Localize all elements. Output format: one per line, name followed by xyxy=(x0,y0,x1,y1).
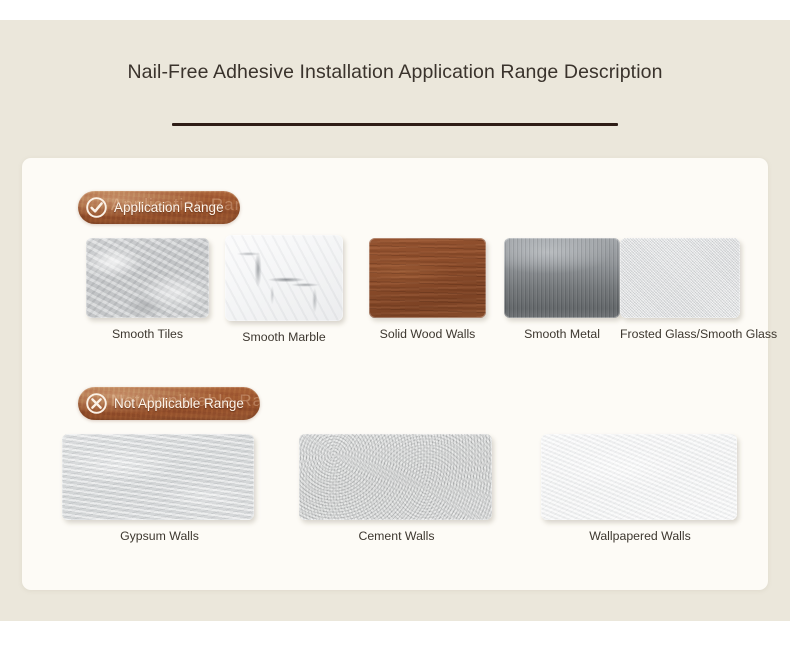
surface-label-wallpapered-walls: Wallpapered Walls xyxy=(541,528,739,544)
surface-swatch-wallpapered-walls xyxy=(541,434,737,520)
infographic-page: Nail-Free Adhesive Installation Applicat… xyxy=(0,0,790,647)
surface-swatch-smooth-marble xyxy=(225,235,343,321)
surface-label-solid-wood-walls: Solid Wood Walls xyxy=(369,326,486,342)
surface-item-gypsum-walls: Gypsum Walls xyxy=(62,434,257,544)
surface-swatch-frosted-glass xyxy=(620,238,740,318)
check-circle-icon xyxy=(85,196,108,219)
surface-label-cement-walls: Cement Walls xyxy=(299,528,494,544)
page-title: Nail-Free Adhesive Installation Applicat… xyxy=(0,58,790,86)
surface-label-smooth-tiles: Smooth Tiles xyxy=(86,326,209,342)
surface-swatch-cement-walls xyxy=(299,434,492,520)
surface-label-smooth-marble: Smooth Marble xyxy=(225,329,343,345)
surface-item-solid-wood-walls: Solid Wood Walls xyxy=(369,238,486,342)
surface-item-smooth-marble: Smooth Marble xyxy=(225,235,343,345)
surface-label-frosted-glass: Frosted Glass/Smooth Glass xyxy=(620,326,740,342)
surface-swatch-smooth-tiles xyxy=(86,238,209,318)
surface-label-smooth-metal: Smooth Metal xyxy=(504,326,620,342)
surface-item-frosted-glass: Frosted Glass/Smooth Glass xyxy=(620,238,740,342)
title-underline-rule xyxy=(172,123,618,126)
badge-application-range: Application Range Application Range xyxy=(78,191,240,224)
badge-not-applicable-range-label: Not Applicable Range xyxy=(114,396,244,411)
surface-item-cement-walls: Cement Walls xyxy=(299,434,494,544)
surface-item-smooth-metal: Smooth Metal xyxy=(504,238,620,342)
surface-item-wallpapered-walls: Wallpapered Walls xyxy=(541,434,739,544)
surface-swatch-gypsum-walls xyxy=(62,434,254,520)
surface-label-gypsum-walls: Gypsum Walls xyxy=(62,528,257,544)
title-block: Nail-Free Adhesive Installation Applicat… xyxy=(0,58,790,86)
badge-application-range-label: Application Range xyxy=(114,200,224,215)
content-card: Application Range Application Range Smoo… xyxy=(22,158,768,590)
surface-item-smooth-tiles: Smooth Tiles xyxy=(86,238,209,342)
x-circle-icon xyxy=(85,392,108,415)
surface-swatch-smooth-metal xyxy=(504,238,620,318)
surface-swatch-solid-wood-walls xyxy=(369,238,486,318)
badge-not-applicable-range: Not Applicable Range Not Applicable Rang… xyxy=(78,387,260,420)
